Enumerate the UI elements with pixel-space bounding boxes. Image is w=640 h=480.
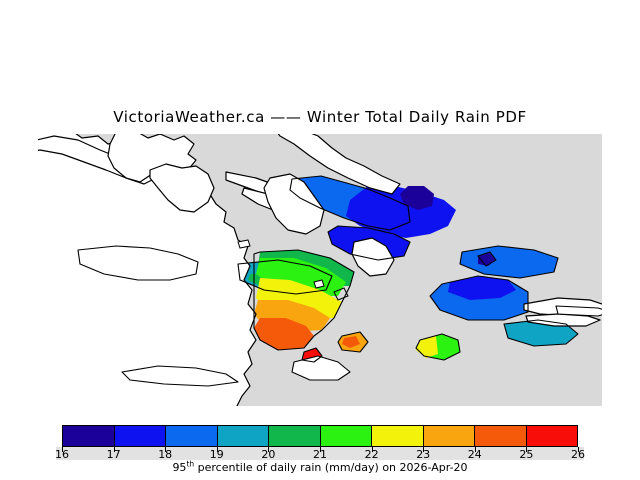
land-speck-2 — [314, 280, 324, 288]
map-panel[interactable] — [38, 134, 602, 406]
weather-map-figure: VictoriaWeather.ca —— Winter Total Daily… — [0, 0, 640, 480]
contour-band-18-19-far-northeast — [460, 246, 558, 278]
colorbar-label-21: 21 — [313, 448, 327, 461]
colorbar-band-18-19[interactable] — [166, 426, 218, 446]
map-canvas[interactable] — [38, 134, 602, 406]
colorbar-label-22: 22 — [365, 448, 379, 461]
colorbar-label-23: 23 — [416, 448, 430, 461]
colorbar-band-24-25[interactable] — [475, 426, 527, 446]
colorbar-band-22-23[interactable] — [372, 426, 424, 446]
colorbar-band-20-21[interactable] — [269, 426, 321, 446]
caption-ordinal-suffix: th — [186, 459, 194, 468]
colorbar-label-19: 19 — [210, 448, 224, 461]
colorbar-band-21-22[interactable] — [321, 426, 373, 446]
colorbar-band-25-26[interactable] — [527, 426, 578, 446]
colorbar-tick-labels: 1617181920212223242526 — [62, 448, 578, 462]
colorbar-cells[interactable] — [62, 425, 578, 447]
colorbar-label-18: 18 — [158, 448, 172, 461]
land-speck-1 — [238, 240, 250, 248]
caption-rest: percentile of daily rain (mm/day) on 202… — [194, 461, 467, 474]
colorbar-band-16-17[interactable] — [63, 426, 115, 446]
colorbar-band-23-24[interactable] — [424, 426, 476, 446]
colorbar[interactable] — [62, 425, 578, 447]
colorbar-band-17-18[interactable] — [115, 426, 167, 446]
contour-band-islet-sanjuan-yellow — [416, 336, 438, 358]
colorbar-label-17: 17 — [107, 448, 121, 461]
colorbar-label-16: 16 — [55, 448, 69, 461]
caption-percentile-number: 95 — [172, 461, 186, 474]
land-discovery-islets — [292, 356, 350, 380]
colorbar-label-20: 20 — [261, 448, 275, 461]
colorbar-band-19-20[interactable] — [218, 426, 270, 446]
colorbar-label-24: 24 — [468, 448, 482, 461]
colorbar-label-25: 25 — [519, 448, 533, 461]
colorbar-label-26: 26 — [571, 448, 585, 461]
land-far-east-spit — [556, 306, 602, 316]
page-title: VictoriaWeather.ca —— Winter Total Daily… — [0, 108, 640, 126]
colorbar-caption: 95th percentile of daily rain (mm/day) o… — [0, 461, 640, 474]
